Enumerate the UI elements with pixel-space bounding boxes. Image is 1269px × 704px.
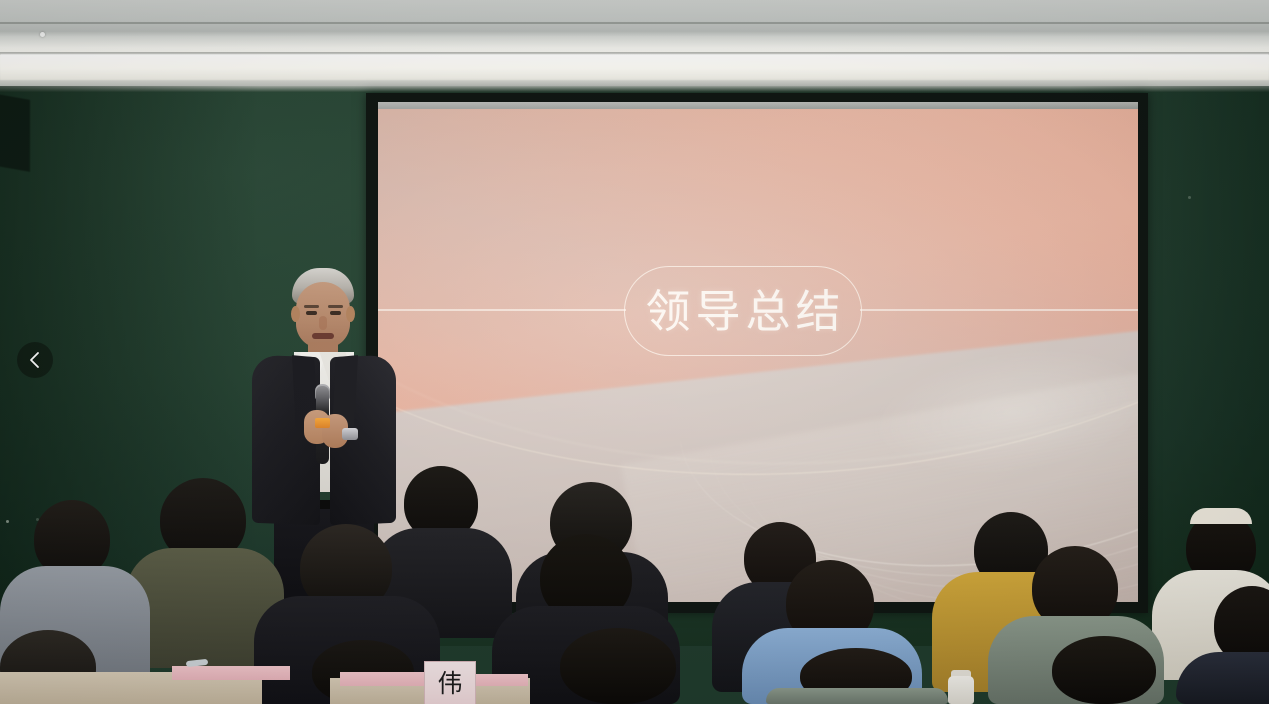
pink-paper-left: [172, 666, 290, 680]
microphone-accent-ring: [315, 418, 330, 428]
audience-headband: [1190, 508, 1252, 524]
audience-body: [766, 688, 948, 704]
photo-viewer-stage: 领导总结: [0, 0, 1269, 704]
name-card: 伟: [424, 661, 476, 704]
name-card-text: 伟: [437, 671, 462, 696]
audience-head: [1052, 636, 1156, 704]
water-bottle: [948, 676, 974, 704]
audience-head: [560, 628, 676, 704]
audience-group: 伟: [0, 0, 1269, 704]
chevron-left-icon: [28, 351, 42, 369]
speaker-wristwatch: [342, 428, 358, 440]
prev-photo-button[interactable]: [17, 342, 53, 378]
